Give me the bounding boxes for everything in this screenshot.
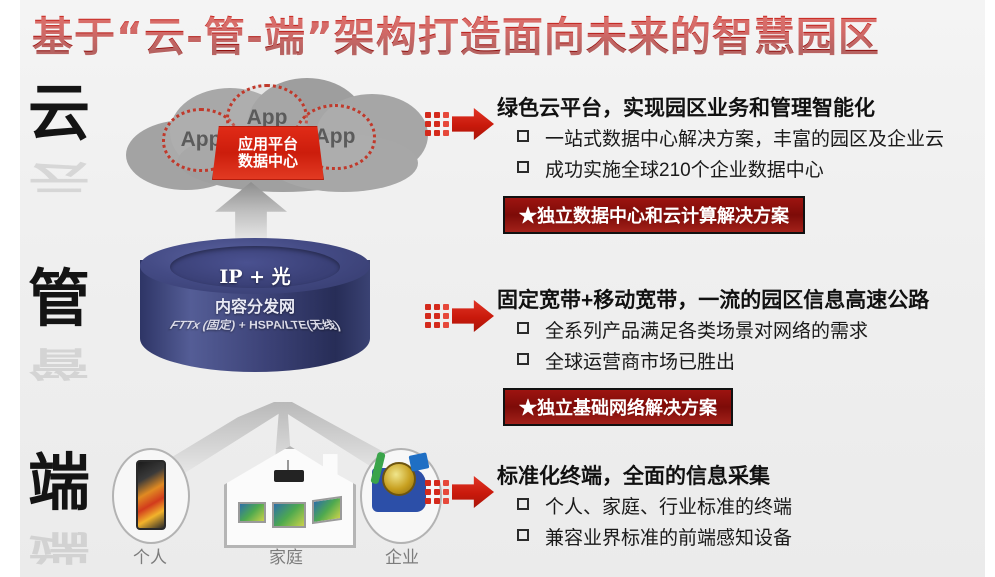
- tier-label-pipe-text: 管: [28, 262, 90, 335]
- bullet-square-icon: [517, 161, 529, 173]
- list-item-text: 全球运营商市场已胜出: [545, 347, 735, 374]
- red-arrow-marker-pipe: [425, 294, 495, 336]
- tablet-icon: [312, 496, 342, 524]
- section-heading-cloud: 绿色云平台，实现园区业务和管理智能化: [497, 92, 875, 122]
- page-title: 基于“云-管-端”架构打造面向未来的智慧园区: [32, 8, 932, 68]
- list-item: 一站式数据中心解决方案，丰富的园区及企业云: [517, 124, 944, 151]
- datacenter-label: 数据中心: [238, 153, 298, 170]
- device-label-home: 家庭: [236, 543, 336, 568]
- laptop-icon: [238, 502, 266, 523]
- red-arrow-icon: [452, 108, 494, 140]
- bullet-square-icon: [517, 130, 529, 142]
- bullet-list-pipe: 全系列产品满足各类场景对网络的需求 全球运营商市场已胜出: [517, 316, 868, 378]
- device-group-home: [222, 446, 352, 546]
- list-item: 全球运营商市场已胜出: [517, 347, 868, 374]
- tier-label-pipe-reflection: 管: [28, 346, 114, 380]
- smart-meter-icon: [372, 468, 426, 512]
- bullet-square-icon: [517, 353, 529, 365]
- red-arrow-icon: [452, 300, 494, 332]
- list-item-text: 个人、家庭、行业标准的终端: [545, 492, 792, 519]
- cylinder-label-tech: FTTx (固定) + HSPA/LTE(无线): [133, 317, 377, 333]
- red-arrow-marker-cloud: [425, 102, 495, 144]
- tier-label-device-text: 端: [28, 446, 90, 519]
- device-group-personal: [112, 448, 190, 544]
- red-arrow-icon: [452, 476, 494, 508]
- device-label-enterprise: 企业: [356, 543, 448, 568]
- device-label-personal: 个人: [106, 543, 194, 568]
- tier-label-cloud: 云 云: [28, 82, 114, 208]
- list-item: 兼容业界标准的前端感知设备: [517, 523, 792, 550]
- bullet-list-device: 个人、家庭、行业标准的终端 兼容业界标准的前端感知设备: [517, 492, 792, 554]
- cylinder-label-ip: IP + 光: [140, 262, 370, 289]
- wireless-hub-icon: [274, 470, 304, 482]
- section-heading-device: 标准化终端，全面的信息采集: [497, 460, 770, 490]
- cloud-graphic: App App App 应用平台 数据中心: [118, 78, 438, 198]
- highlight-banner-cloud: ★独立数据中心和云计算解决方案: [503, 196, 805, 234]
- tier-label-cloud-reflection: 云: [28, 160, 114, 194]
- smartphone-icon: [136, 460, 166, 530]
- cylinder-label-cdn: 内容分发网: [140, 293, 370, 317]
- section-heading-pipe: 固定宽带+移动宽带，一流的园区信息高速公路: [497, 284, 929, 314]
- platform-label: 应用平台: [238, 136, 298, 153]
- tv-icon: [272, 502, 306, 528]
- list-item-text: 全系列产品满足各类场景对网络的需求: [545, 316, 868, 343]
- tier-label-pipe: 管 管: [28, 268, 114, 394]
- bullet-square-icon: [517, 498, 529, 510]
- list-item-text: 成功实施全球210个企业数据中心: [545, 155, 824, 182]
- red-arrow-marker-device: [425, 470, 495, 512]
- list-item-text: 兼容业界标准的前端感知设备: [545, 523, 792, 550]
- list-item: 个人、家庭、行业标准的终端: [517, 492, 792, 519]
- list-item: 成功实施全球210个企业数据中心: [517, 155, 944, 182]
- highlight-banner-pipe: ★独立基础网络解决方案: [503, 388, 733, 426]
- slide-canvas: 基于“云-管-端”架构打造面向未来的智慧园区 云 云 管 管 端 端 App A…: [0, 0, 995, 577]
- dot-grid-icon: [425, 112, 451, 136]
- tier-label-device: 端 端: [28, 452, 114, 577]
- bullet-square-icon: [517, 322, 529, 334]
- bullet-square-icon: [517, 529, 529, 541]
- dot-grid-icon: [425, 304, 451, 328]
- list-item: 全系列产品满足各类场景对网络的需求: [517, 316, 868, 343]
- bullet-list-cloud: 一站式数据中心解决方案，丰富的园区及企业云 成功实施全球210个企业数据中心: [517, 124, 944, 186]
- dot-grid-icon: [425, 480, 451, 504]
- tier-label-cloud-text: 云: [28, 76, 90, 149]
- datacenter-box: 应用平台 数据中心: [212, 126, 324, 180]
- list-item-text: 一站式数据中心解决方案，丰富的园区及企业云: [545, 124, 944, 151]
- tier-label-device-reflection: 端: [28, 530, 114, 564]
